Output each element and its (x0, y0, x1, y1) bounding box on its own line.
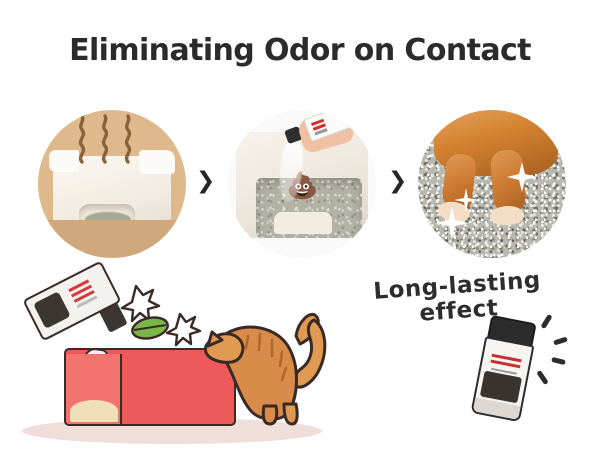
litter-inside (85, 212, 131, 224)
burst-dash (553, 336, 568, 345)
litter-box-entry-notch (79, 204, 135, 234)
burst-dash (540, 314, 552, 329)
bottle-label-text (68, 279, 89, 292)
burst-lines-icon (534, 310, 588, 384)
illustration-cat (204, 310, 328, 428)
process-step-apply: 💩 (228, 110, 376, 258)
bottle-cat-graphic (33, 291, 71, 329)
litter-box-entry-notch (274, 212, 332, 234)
page-title: Eliminating Odor on Contact (0, 33, 600, 68)
step-3-circle (418, 110, 566, 258)
odor-wave-icon (76, 114, 134, 164)
chevron-right-icon: ❯ (388, 170, 407, 193)
bottle-label (311, 119, 324, 126)
step-2-circle: 💩 (228, 110, 376, 258)
cat-hind-leg-a (263, 406, 277, 424)
illustration-litter-pile (70, 400, 118, 422)
product-bottle-body (471, 336, 535, 422)
litter-box-rim-left (49, 150, 79, 172)
litter-box-rim-right (139, 150, 175, 174)
cat-litter-illustration (14, 272, 334, 448)
cat-hind-leg-b (284, 404, 297, 424)
sparkle-group-icon (418, 110, 566, 258)
burst-dash (536, 370, 549, 385)
process-step-clean (418, 110, 566, 258)
process-step-odor (38, 110, 186, 258)
litter-box-base (59, 232, 167, 244)
chevron-right-icon: ❯ (196, 170, 215, 193)
product-label-title (492, 354, 522, 363)
burst-dash (551, 357, 566, 365)
process-row: ❯ 💩 ❯ (0, 108, 600, 263)
product-bottle (471, 314, 534, 417)
step-1-circle (38, 110, 186, 258)
long-lasting-block: Long-lasting effect (368, 274, 594, 450)
